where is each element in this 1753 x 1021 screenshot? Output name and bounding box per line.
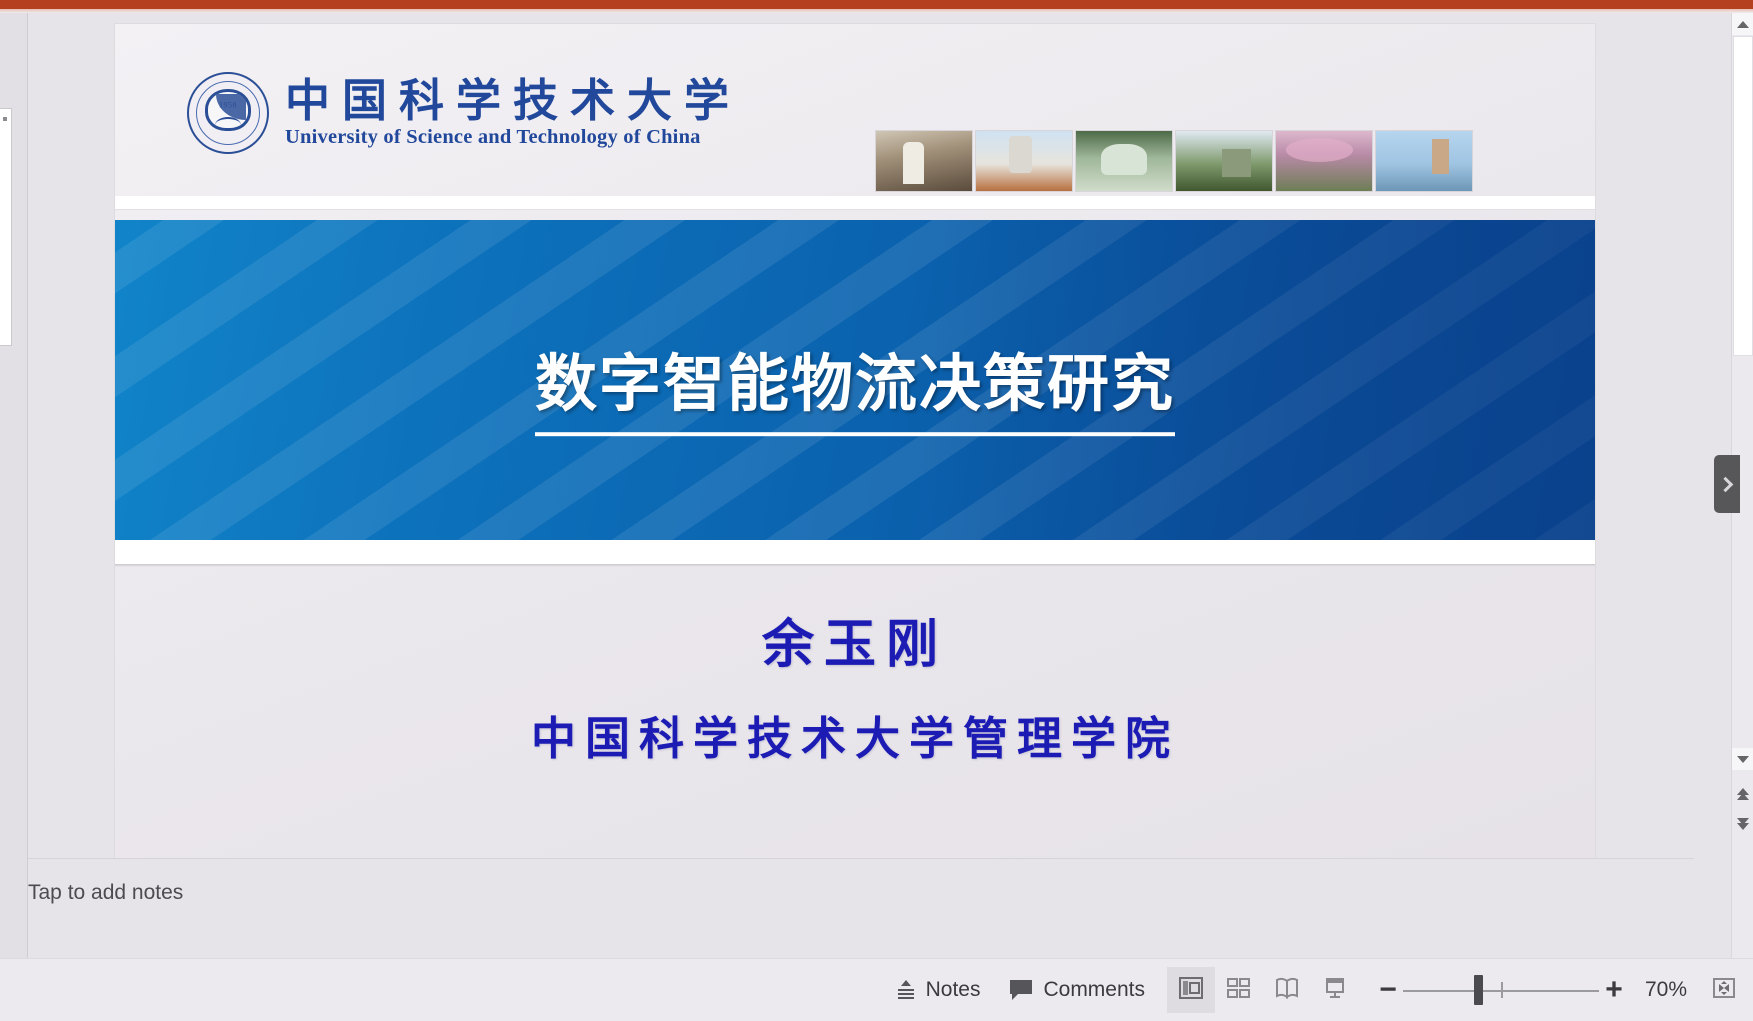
zoom-slider-tick [1501, 982, 1503, 998]
double-chevron-up-icon [1737, 789, 1749, 799]
title-banner[interactable]: 数字智能物流决策研究 [115, 220, 1595, 540]
campus-cherry-blossom-photo [1275, 130, 1373, 192]
seal-core-icon [205, 89, 251, 131]
slide-editor-canvas[interactable]: 1958 中国科学技术大学 University of Science and … [28, 13, 1694, 958]
comments-button-label: Comments [1043, 978, 1145, 1002]
zoom-slider[interactable] [1403, 967, 1599, 1013]
notes-placeholder-text[interactable]: Tap to add notes [28, 881, 183, 905]
university-name-block: 中国科学技术大学 University of Science and Techn… [285, 77, 741, 148]
fit-slide-to-window-button[interactable] [1703, 967, 1745, 1013]
reading-view-icon [1274, 976, 1300, 1005]
author-affiliation-textbox[interactable]: 中国科学技术大学管理学院 [115, 702, 1595, 767]
scrollbar-thumb[interactable] [1733, 36, 1753, 356]
notes-pane[interactable]: Tap to add notes [28, 858, 1694, 958]
campus-courtyard-photo [1175, 130, 1273, 192]
campus-tower-building-photo [975, 130, 1073, 192]
campus-lakeside-highrise-photo [1375, 130, 1473, 192]
slide-title-text: 数字智能物流决策研究 [535, 347, 1175, 436]
slide-sorter-icon [1226, 976, 1252, 1005]
slide-show-icon [1322, 976, 1348, 1005]
ustc-seal-icon: 1958 [187, 72, 269, 154]
notes-button-label: Notes [926, 978, 981, 1002]
university-name-en: University of Science and Technology of … [285, 126, 741, 149]
slide-title-textbox[interactable]: 数字智能物流决策研究 [115, 333, 1595, 423]
panel-expander-button[interactable] [1714, 455, 1740, 513]
previous-slide-button[interactable] [1732, 783, 1753, 805]
triangle-down-icon [1737, 756, 1749, 763]
fit-to-window-icon [1711, 976, 1737, 1005]
banner-underline-rule [115, 564, 1595, 567]
slide-sorter-button[interactable] [1215, 967, 1263, 1013]
slide-thumbnail-rail[interactable] [0, 13, 28, 958]
campus-stone-sculpture-photo [1075, 130, 1173, 192]
notes-button[interactable]: Notes [881, 967, 995, 1013]
zoom-level-label[interactable]: 70% [1629, 978, 1703, 1002]
scroll-down-button[interactable] [1732, 748, 1753, 770]
campus-gate-lion-photo [875, 130, 973, 192]
university-logo: 1958 中国科学技术大学 University of Science and … [187, 72, 741, 154]
next-slide-button[interactable] [1732, 813, 1753, 835]
banner-underline-band [115, 540, 1595, 564]
status-bar: Notes Comments [0, 958, 1753, 1021]
author-name-textbox[interactable]: 余玉刚 [115, 602, 1595, 677]
header-divider [115, 196, 1595, 210]
handle-mark-icon [3, 117, 7, 121]
reading-view-button[interactable] [1263, 967, 1311, 1013]
normal-view-button[interactable] [1167, 967, 1215, 1013]
seal-year-label: 1958 [219, 101, 237, 110]
powerpoint-window: 1958 中国科学技术大学 University of Science and … [0, 0, 1753, 1021]
scroll-up-button[interactable] [1732, 13, 1753, 35]
zoom-out-button[interactable]: − [1373, 967, 1403, 1013]
university-name-cn: 中国科学技术大学 [285, 77, 741, 124]
comments-button[interactable]: Comments [994, 967, 1159, 1013]
comment-bubble-icon [1008, 978, 1034, 1002]
slide-show-button[interactable] [1311, 967, 1359, 1013]
view-mode-buttons [1167, 967, 1359, 1013]
zoom-in-button[interactable]: + [1599, 967, 1629, 1013]
chevron-right-icon [1718, 476, 1734, 492]
zoom-controls: − + 70% [1373, 967, 1745, 1013]
notes-icon [895, 978, 917, 1002]
slide-header: 1958 中国科学技术大学 University of Science and … [115, 72, 1595, 168]
ribbon-accent-bar [0, 0, 1753, 9]
slide-surface[interactable]: 1958 中国科学技术大学 University of Science and … [115, 24, 1595, 869]
triangle-up-icon [1737, 21, 1749, 28]
normal-view-icon [1178, 976, 1204, 1005]
campus-photo-strip [875, 130, 1473, 192]
zoom-slider-thumb[interactable] [1474, 975, 1483, 1005]
double-chevron-down-icon [1737, 819, 1749, 829]
thumbnail-panel-handle[interactable] [0, 108, 12, 346]
